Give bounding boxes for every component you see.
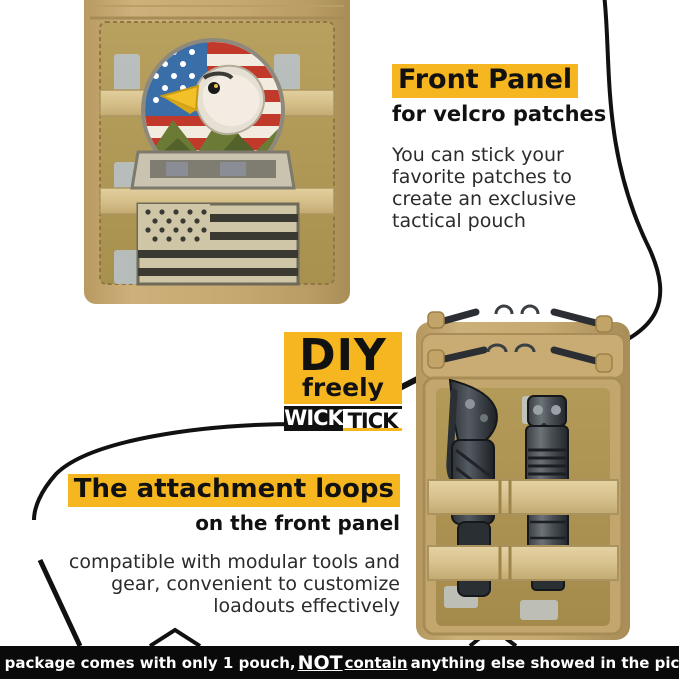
- brand-logo-part-2: TICK: [343, 406, 402, 431]
- diy-sub-text: freely: [292, 375, 394, 400]
- front-panel-title: Front Panel: [392, 64, 578, 98]
- disclaimer-suffix: anything else showed in the pictures: [411, 654, 679, 672]
- disclaimer-emphasis: NOT: [298, 652, 343, 674]
- attachment-loops-body: compatible with modular tools and gear, …: [52, 551, 400, 617]
- disclaimer-emphasis-2: contain: [345, 654, 408, 672]
- molle-strap-upper: [428, 480, 618, 514]
- attachment-loops-subtitle: on the front panel: [52, 511, 400, 535]
- callout-front-panel: Front Panel for velcro patches You can s…: [392, 64, 622, 232]
- diy-badge-box: DIY freely: [284, 332, 402, 404]
- callout-attachment-loops: The attachment loops on the front panel …: [52, 474, 400, 617]
- diy-main-text: DIY: [292, 334, 394, 377]
- front-panel-subtitle: for velcro patches: [392, 102, 622, 126]
- disclaimer-prefix: * The package comes with only 1 pouch,: [0, 654, 296, 672]
- patch-banner: [132, 152, 294, 188]
- brand-logo-part-1: WICK: [284, 406, 343, 431]
- front-panel-body: You can stick your favorite patches to c…: [392, 144, 622, 232]
- diy-badge: DIY freely WICK TICK: [284, 332, 402, 431]
- molle-strap-lower: [428, 546, 618, 580]
- subdued-us-flag-patch: [138, 204, 298, 284]
- infographic-page: Front Panel for velcro patches You can s…: [0, 0, 679, 679]
- photo-front-panel-pouch: [78, 0, 358, 312]
- disclaimer-bar: * The package comes with only 1 pouch, N…: [0, 646, 679, 679]
- photo-loops-pouch: [404, 300, 648, 648]
- attachment-loops-title: The attachment loops: [68, 474, 400, 507]
- line-bar-notch-left: [150, 630, 200, 646]
- brand-logo: WICK TICK: [284, 406, 402, 431]
